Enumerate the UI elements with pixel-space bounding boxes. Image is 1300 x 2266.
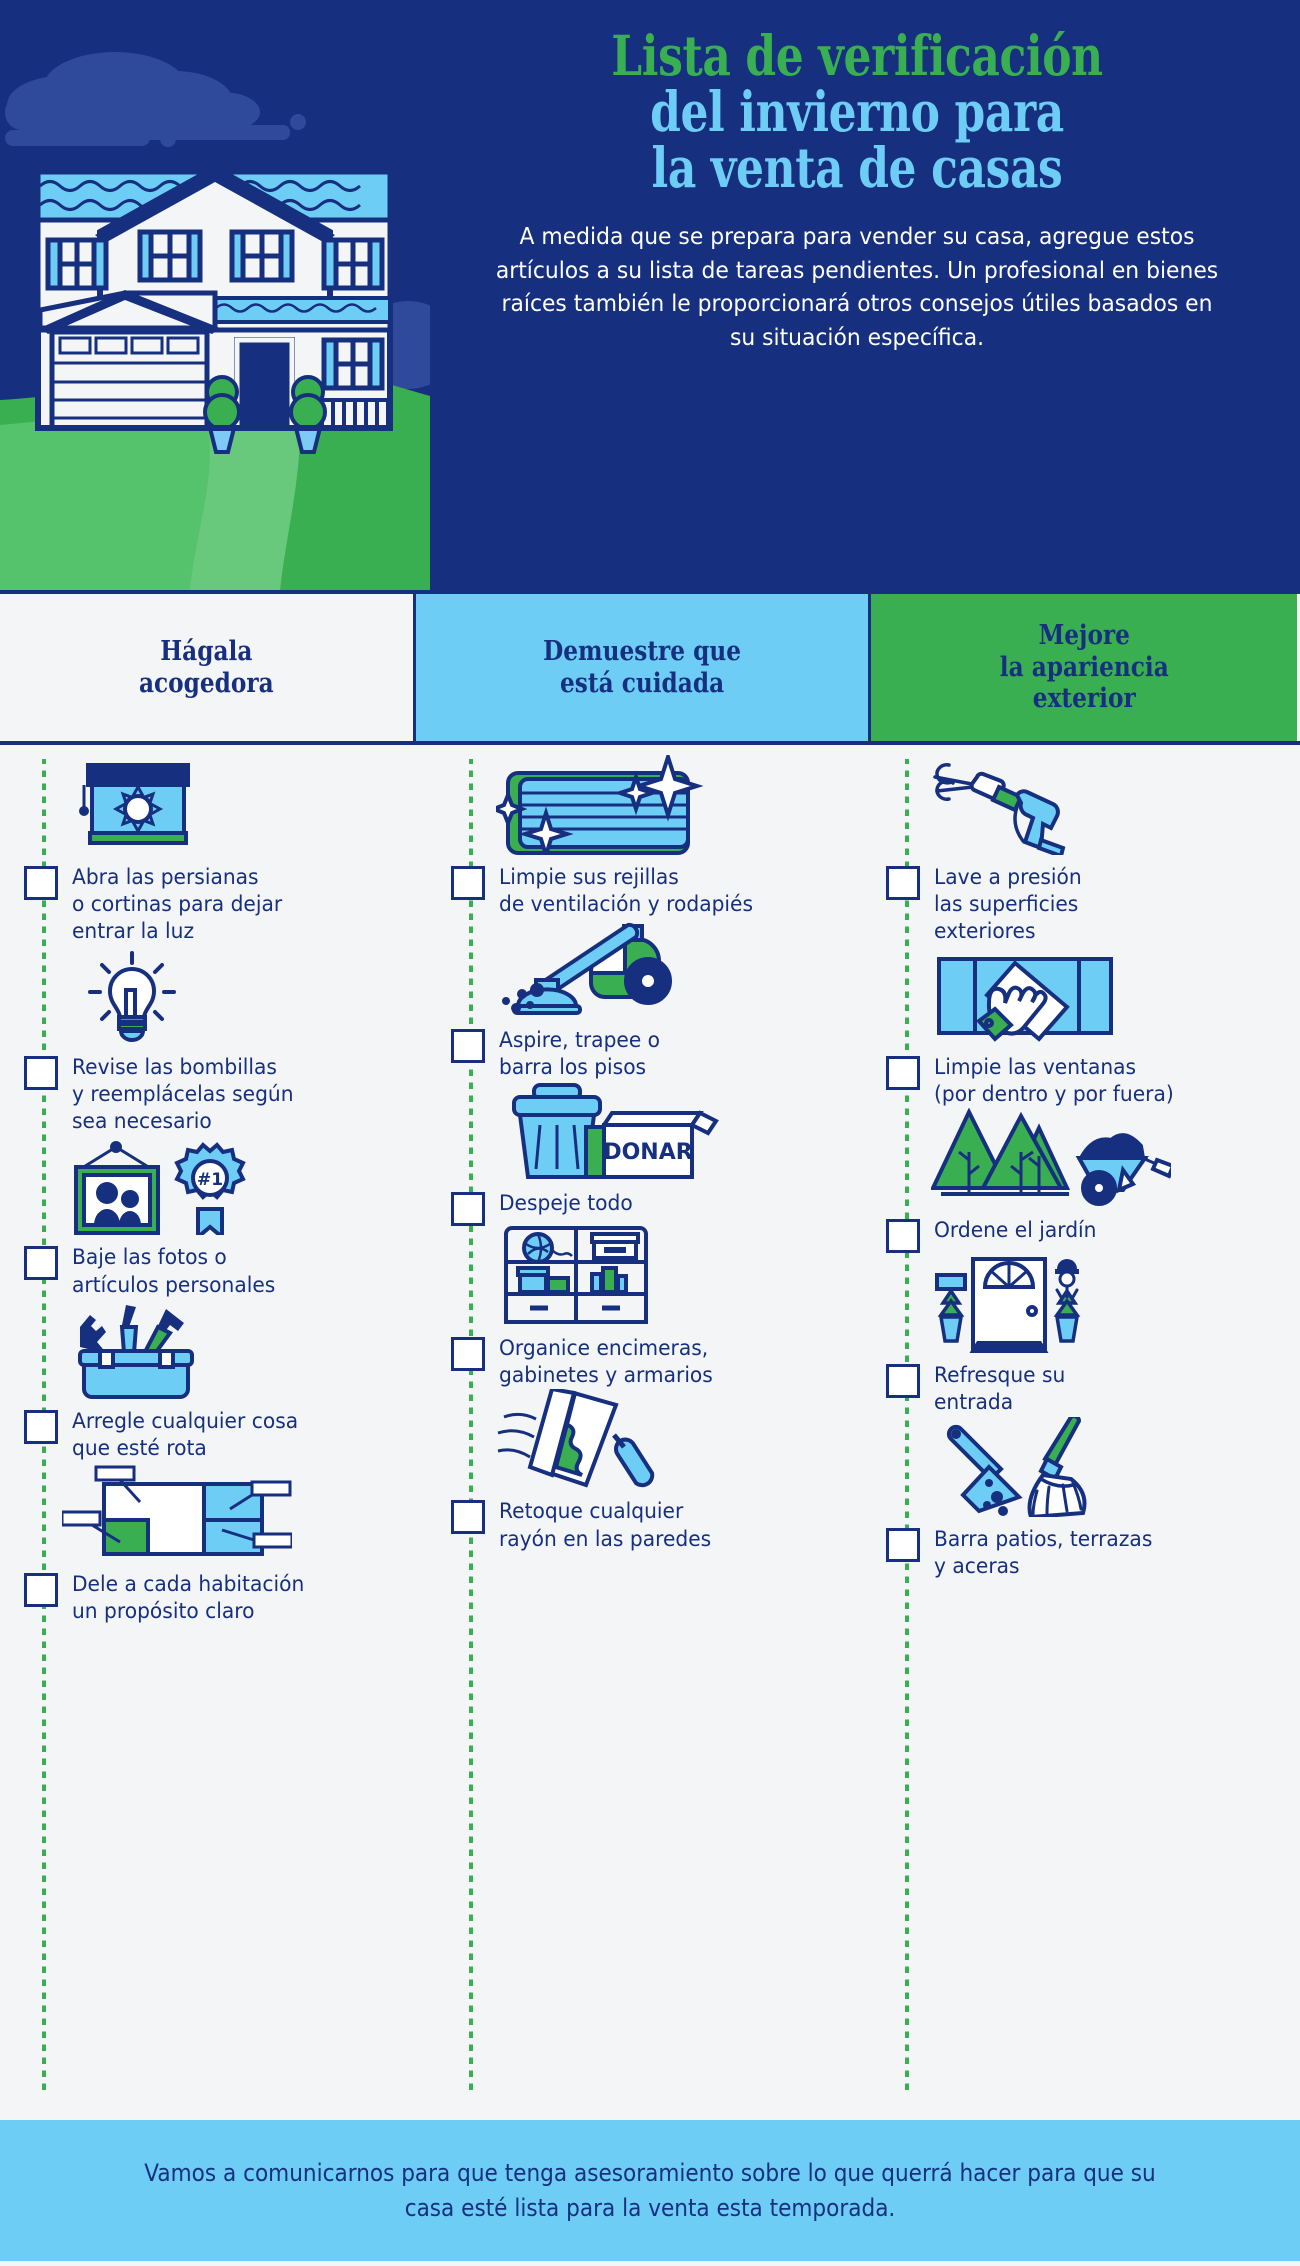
checklist-column-curb-appeal: Lave a presión las superficies exteriore… — [871, 745, 1297, 2117]
list-item: Organice encimeras, gabinetes y armarios — [416, 1226, 871, 1389]
list-item: Revise las bombillas y reemplácelas segú… — [0, 945, 416, 1135]
footer-banner: Vamos a comunicarnos para que tenga ases… — [0, 2117, 1300, 2261]
vacuum-cleaner-icon — [416, 918, 871, 1018]
page-title: Lista de verificación del invierno para … — [539, 28, 1174, 196]
column-header-curb-appeal: Mejore la apariencia exterior — [871, 594, 1297, 741]
list-item: Limpie sus rejillas de ventilación y rod… — [416, 755, 871, 918]
list-item-label: Abra las persianas o cortinas para dejar… — [72, 864, 282, 945]
list-item-label: Barra patios, terrazas y aceras — [934, 1526, 1152, 1580]
checkbox[interactable] — [451, 1029, 485, 1063]
checkbox[interactable] — [451, 1500, 485, 1534]
donate-box-label: DONAR — [603, 1140, 692, 1165]
list-item-label: Organice encimeras, gabinetes y armarios — [499, 1335, 713, 1389]
title-line-1: Lista de verificación — [539, 28, 1174, 84]
list-item-label: Limpie las ventanas (por dentro y por fu… — [934, 1054, 1174, 1108]
list-item-label: Limpie sus rejillas de ventilación y rod… — [499, 864, 753, 918]
list-item: Aspire, trapee o barra los pisos — [416, 918, 871, 1081]
checklist-columns: Abra las persianas o cortinas para dejar… — [0, 745, 1300, 2117]
checkbox[interactable] — [886, 1364, 920, 1398]
list-item-label: Arregle cualquier cosa que esté rota — [72, 1408, 298, 1462]
window-cleaning-icon — [871, 945, 1297, 1045]
column-header-curb-appeal-line2: la apariencia — [999, 652, 1168, 684]
list-item-label: Retoque cualquier rayón en las paredes — [499, 1498, 711, 1552]
column-header-cozy: Hágala acogedora — [0, 594, 416, 741]
column-header-maintained-line2: está cuidada — [543, 668, 741, 700]
paint-roller-icon — [416, 1389, 871, 1489]
header-banner: Lista de verificación del invierno para … — [0, 0, 1300, 590]
svg-text:#1: #1 — [197, 1170, 223, 1190]
checkbox[interactable] — [451, 866, 485, 900]
trees-wheelbarrow-icon — [871, 1108, 1297, 1208]
checkbox[interactable] — [24, 1410, 58, 1444]
checkbox[interactable] — [886, 1528, 920, 1562]
column-header-maintained-line1: Demuestre que — [543, 636, 741, 668]
light-bulb-icon — [0, 945, 416, 1045]
trash-can-donate-box-icon: DONAR — [416, 1081, 871, 1181]
list-item-label: Dele a cada habitación un propósito clar… — [72, 1571, 304, 1625]
column-header-maintained: Demuestre que está cuidada — [416, 594, 871, 741]
list-item: #1 Baje las fotos o artículos personales — [0, 1135, 416, 1298]
list-item: Lave a presión las superficies exteriore… — [871, 755, 1297, 945]
shelving-unit-icon — [416, 1226, 871, 1326]
checklist-column-cozy: Abra las persianas o cortinas para dejar… — [0, 745, 416, 2117]
broom-dustpan-icon — [871, 1417, 1297, 1517]
list-item: Abra las persianas o cortinas para dejar… — [0, 755, 416, 945]
list-item: DONAR Despeje todo — [416, 1081, 871, 1226]
list-item-label: Aspire, trapee o barra los pisos — [499, 1027, 660, 1081]
list-item: Arregle cualquier cosa que esté rota — [0, 1299, 416, 1462]
title-line-3: la venta de casas — [539, 140, 1174, 196]
list-item: Barra patios, terrazas y aceras — [871, 1417, 1297, 1580]
column-header-curb-appeal-line1: Mejore — [999, 620, 1168, 652]
checklist-column-maintained: Limpie sus rejillas de ventilación y rod… — [416, 745, 871, 2117]
list-item-label: Despeje todo — [499, 1190, 633, 1217]
list-item: Refresque su entrada — [871, 1253, 1297, 1416]
column-header-cozy-line1: Hágala — [139, 636, 274, 668]
list-item-label: Baje las fotos o artículos personales — [72, 1244, 275, 1298]
list-item-label: Lave a presión las superficies exteriore… — [934, 864, 1082, 945]
checkbox[interactable] — [24, 1573, 58, 1607]
checkbox[interactable] — [24, 1246, 58, 1280]
header-text-block: Lista de verificación del invierno para … — [430, 0, 1300, 590]
checkbox[interactable] — [24, 1056, 58, 1090]
list-item: Dele a cada habitación un propósito clar… — [0, 1462, 416, 1625]
checkbox[interactable] — [451, 1337, 485, 1371]
column-header-curb-appeal-line3: exterior — [999, 683, 1168, 715]
window-blinds-sun-icon — [0, 755, 416, 855]
house-illustration — [0, 0, 430, 590]
air-vent-sparkle-icon — [416, 755, 871, 855]
list-item: Retoque cualquier rayón en las paredes — [416, 1389, 871, 1552]
footer-text: Vamos a comunicarnos para que tenga ases… — [128, 2156, 1172, 2224]
column-headers: Hágala acogedora Demuestre que está cuid… — [0, 590, 1300, 745]
list-item-label: Revise las bombillas y reemplácelas segú… — [72, 1054, 294, 1135]
picture-frame-award-ribbon-icon: #1 — [0, 1135, 416, 1235]
list-item: Ordene el jardín — [871, 1108, 1297, 1253]
pressure-washer-icon — [871, 755, 1297, 855]
toolbox-icon — [0, 1299, 416, 1399]
title-line-2: del invierno para — [539, 84, 1174, 140]
checkbox[interactable] — [886, 1219, 920, 1253]
checkbox[interactable] — [886, 1056, 920, 1090]
column-header-cozy-line2: acogedora — [139, 668, 274, 700]
checkbox[interactable] — [886, 866, 920, 900]
floor-plan-icon — [0, 1462, 416, 1562]
list-item: Limpie las ventanas (por dentro y por fu… — [871, 945, 1297, 1108]
checkbox[interactable] — [451, 1192, 485, 1226]
infographic-root: Lista de verificación del invierno para … — [0, 0, 1300, 2266]
list-item-label: Ordene el jardín — [934, 1217, 1096, 1244]
checkbox[interactable] — [24, 866, 58, 900]
page-subtitle: A medida que se prepara para vender su c… — [488, 220, 1226, 354]
front-door-plants-icon — [871, 1253, 1297, 1353]
list-item-label: Refresque su entrada — [934, 1362, 1065, 1416]
